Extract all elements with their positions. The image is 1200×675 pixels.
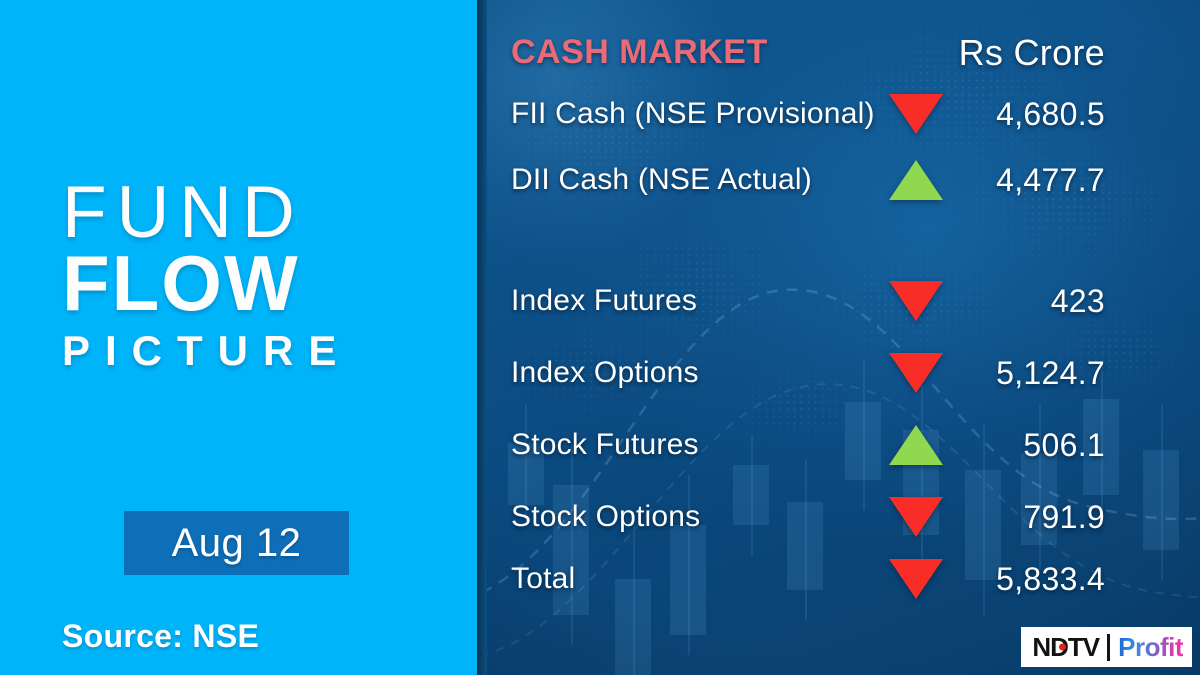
table-header-unit: Rs Crore <box>959 32 1105 74</box>
table-row: FII Cash (NSE Provisional) 4,680.5 <box>483 91 1200 137</box>
brand-title-block: FUND FLOW PICTURE <box>62 178 422 372</box>
arrow-down-icon <box>888 278 944 324</box>
row-value: 506.1 <box>1023 427 1105 464</box>
arrow-down-icon <box>888 556 944 602</box>
date-badge-label: Aug 12 <box>172 521 302 566</box>
arrow-down-icon <box>888 350 944 396</box>
brand-line-picture: PICTURE <box>62 330 422 372</box>
table-row: Index Futures 423 <box>483 278 1200 324</box>
brand-line-flow: FLOW <box>62 244 422 322</box>
table-header-title: CASH MARKET <box>511 33 768 72</box>
row-value: 4,477.7 <box>996 162 1105 199</box>
table-row: Stock Options 791.9 <box>483 494 1200 540</box>
arrow-up-icon <box>888 157 944 203</box>
arrow-down-icon <box>888 494 944 540</box>
row-label: DII Cash (NSE Actual) <box>511 163 812 197</box>
row-value: 423 <box>1051 283 1105 320</box>
logo-profit-label: Profit <box>1118 632 1183 663</box>
table-row: Index Options 5,124.7 <box>483 350 1200 396</box>
row-value: 4,680.5 <box>996 96 1105 133</box>
row-label: Total <box>511 562 575 596</box>
brand-line-fund: FUND <box>62 178 422 248</box>
row-value: 5,124.7 <box>996 355 1105 392</box>
left-brand-panel: FUND FLOW PICTURE Aug 12 Source: NSE <box>0 0 477 675</box>
row-value: 5,833.4 <box>996 561 1105 598</box>
logo-ndtv-text: NDTV <box>1032 632 1099 663</box>
logo-red-dot-icon <box>1059 644 1066 651</box>
row-label: Index Options <box>511 356 699 390</box>
source-label: Source: NSE <box>62 618 259 655</box>
logo-divider <box>1107 634 1110 661</box>
table-row: Total 5,833.4 <box>483 556 1200 602</box>
row-value: 791.9 <box>1023 499 1105 536</box>
ndtv-profit-logo: NDTV Profit <box>1021 627 1192 667</box>
date-badge: Aug 12 <box>124 511 349 575</box>
row-label: Stock Futures <box>511 428 699 462</box>
row-label: FII Cash (NSE Provisional) <box>511 97 875 131</box>
arrow-down-icon <box>888 91 944 137</box>
data-panel: CASH MARKET Rs Crore FII Cash (NSE Provi… <box>483 0 1200 675</box>
fund-flow-table: CASH MARKET Rs Crore FII Cash (NSE Provi… <box>483 0 1200 675</box>
row-label: Index Futures <box>511 284 697 318</box>
infographic-canvas: FUND FLOW PICTURE Aug 12 Source: NSE <box>0 0 1200 675</box>
row-label: Stock Options <box>511 500 700 534</box>
table-row: DII Cash (NSE Actual) 4,477.7 <box>483 157 1200 203</box>
arrow-up-icon <box>888 422 944 468</box>
panel-divider <box>477 0 487 675</box>
table-row: Stock Futures 506.1 <box>483 422 1200 468</box>
